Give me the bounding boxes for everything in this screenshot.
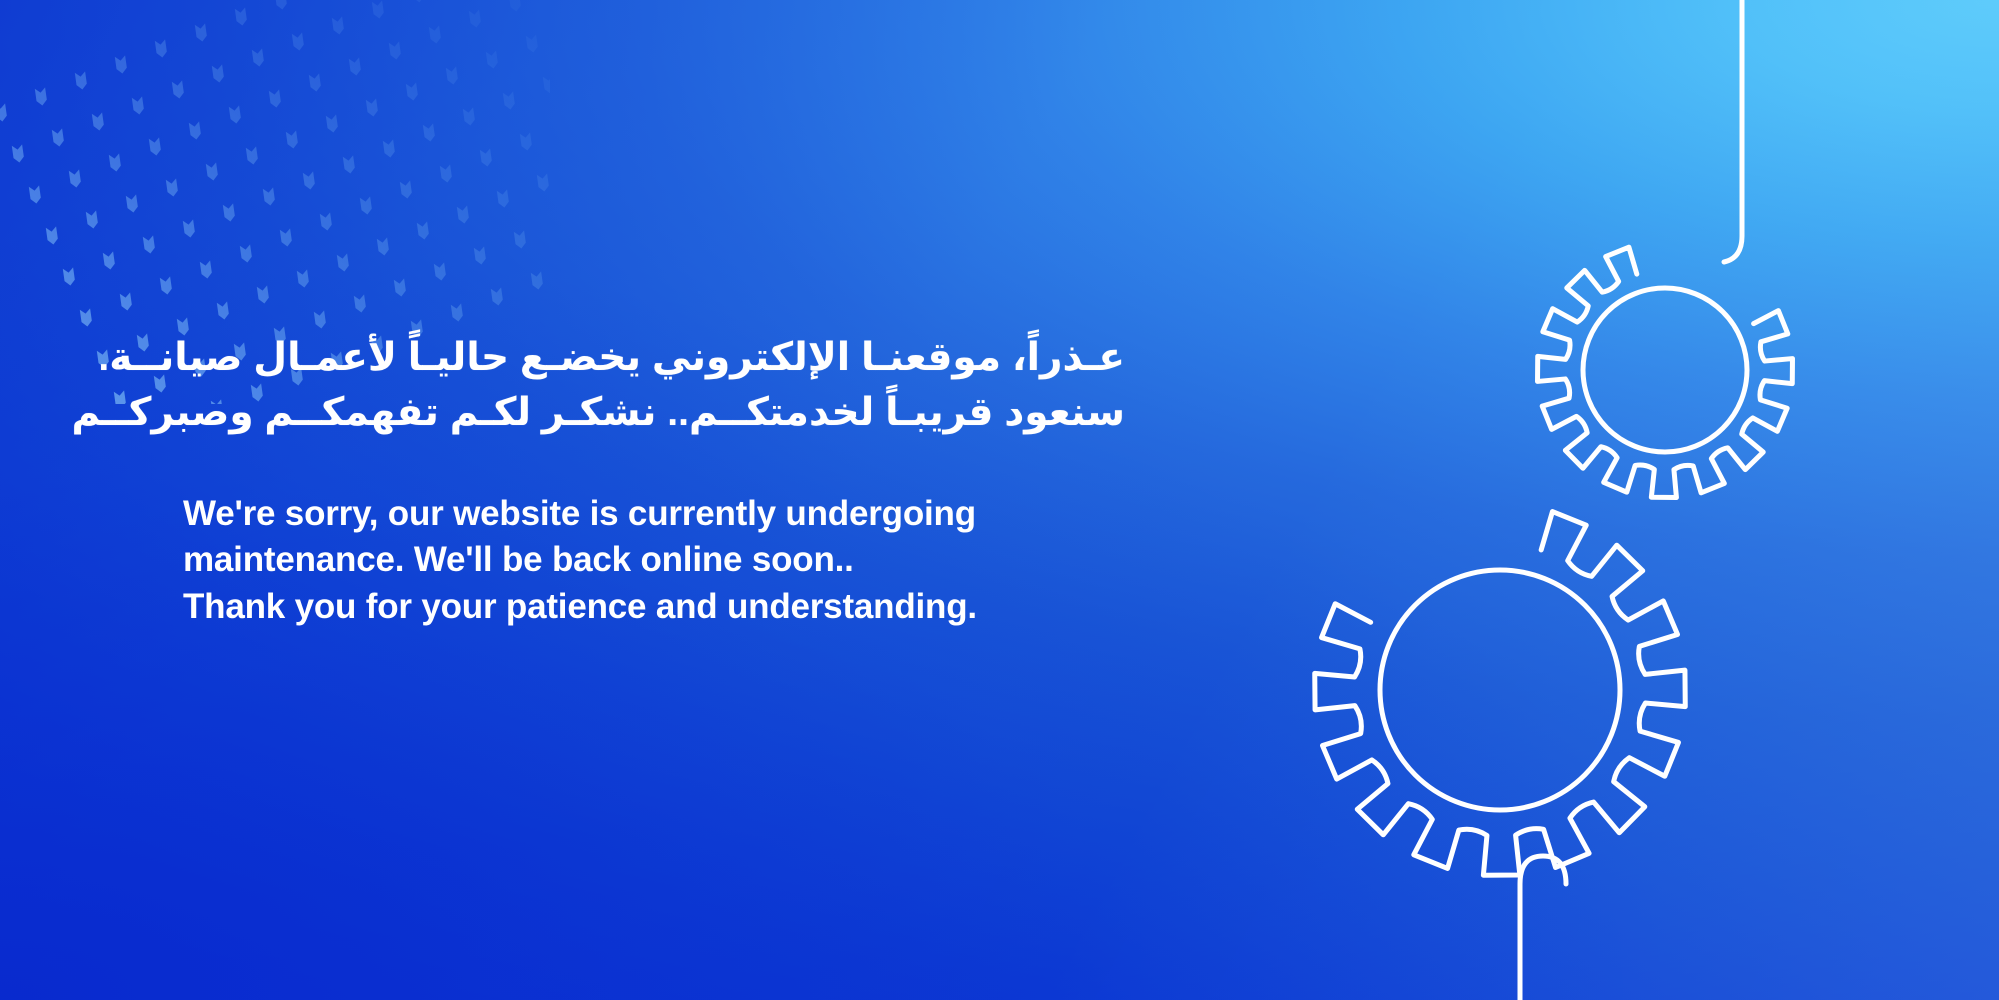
english-line-2: maintenance. We'll be back online soon.. [183,537,1143,584]
message-block: عـذراً، موقعنـا الإلكتروني يخضـع حاليـاً… [183,330,1143,630]
arabic-line-1: عـذراً، موقعنـا الإلكتروني يخضـع حاليـاً… [183,330,1125,385]
english-message: We're sorry, our website is currently un… [183,491,1143,631]
arabic-line-2: سنعود قريبـاً لخدمتكــم.. نشكـر لكـم تفه… [183,385,1125,440]
english-line-3: Thank you for your patience and understa… [183,584,1143,631]
maintenance-page: عـذراً، موقعنـا الإلكتروني يخضـع حاليـاً… [0,0,1999,1000]
arabic-message: عـذراً، موقعنـا الإلكتروني يخضـع حاليـاً… [183,330,1125,441]
english-line-1: We're sorry, our website is currently un… [183,491,1143,538]
